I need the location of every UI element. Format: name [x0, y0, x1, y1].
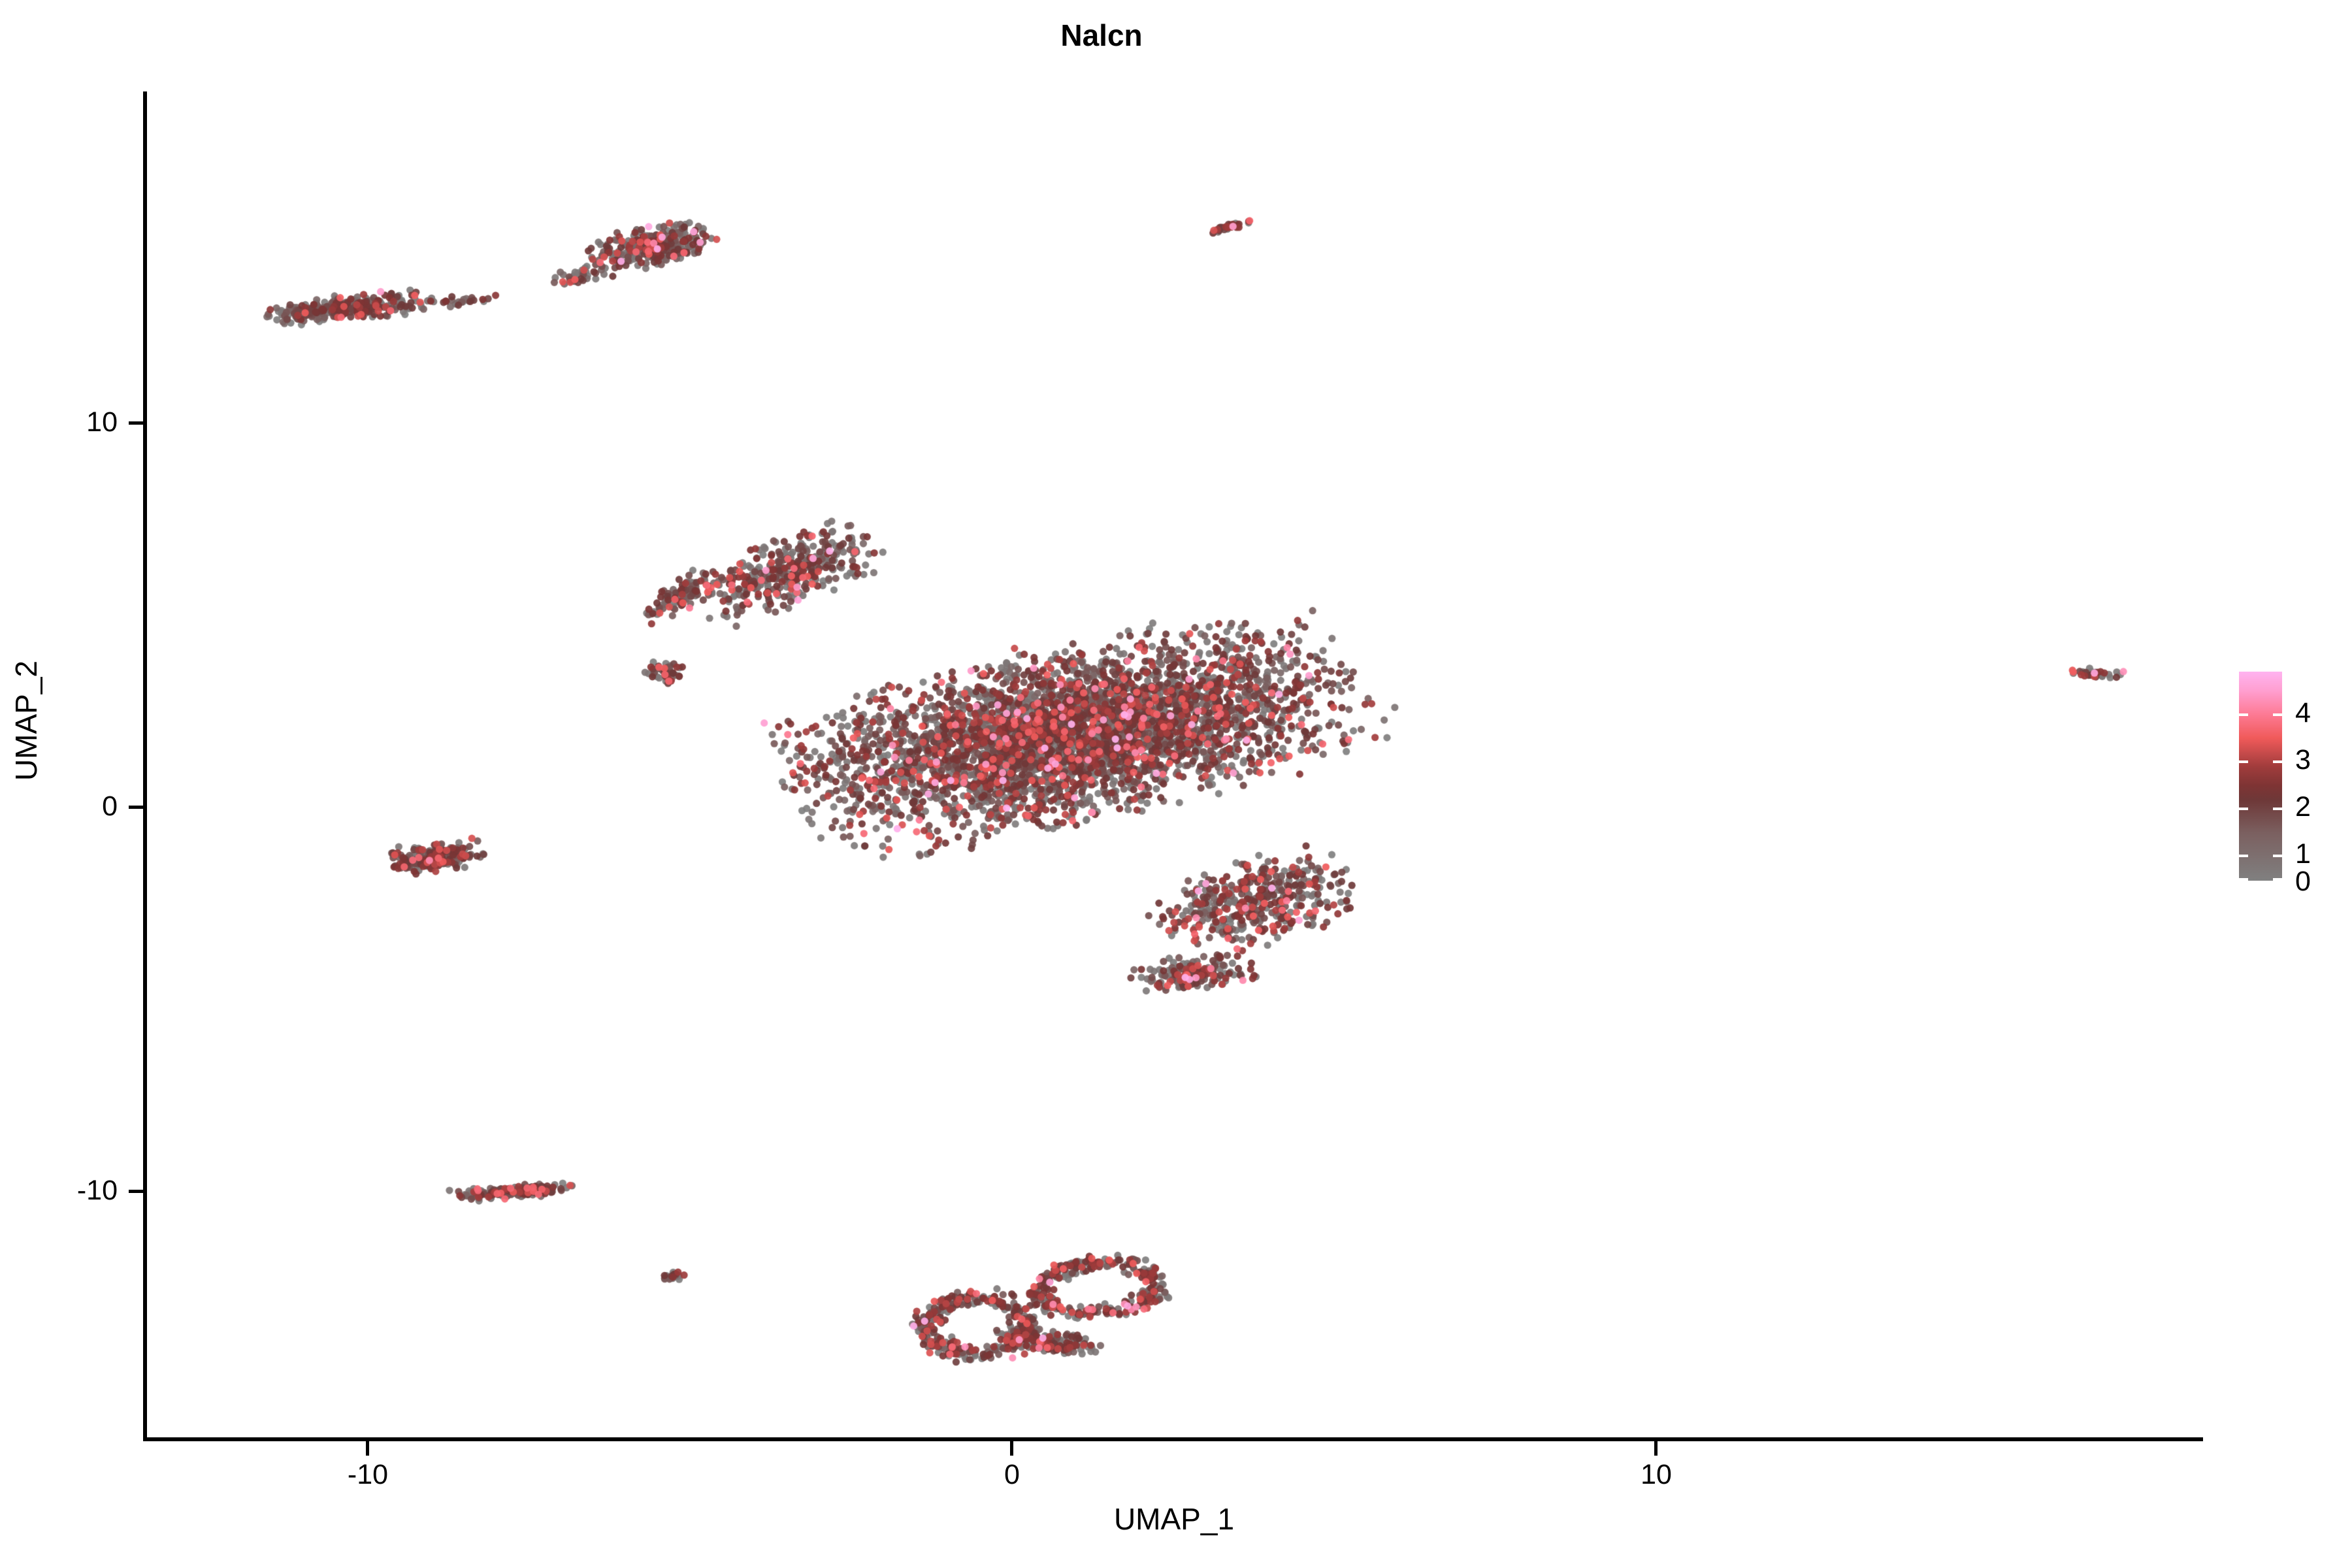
colorbar-tick — [2239, 760, 2248, 763]
x-axis-title: UMAP_1 — [145, 1501, 2203, 1537]
page-title: Nalcn — [0, 17, 2203, 54]
y-tick-mark — [129, 1190, 143, 1193]
x-tick-label-neg10: -10 — [302, 1461, 433, 1489]
x-tick-mark — [1654, 1441, 1658, 1456]
colorbar-tick — [2239, 713, 2248, 716]
colorbar-gradient — [2239, 672, 2282, 881]
colorbar-label-3: 3 — [2295, 746, 2311, 774]
colorbar-label-2: 2 — [2295, 793, 2311, 821]
x-tick-mark — [366, 1441, 369, 1456]
feature-plot-page: Nalcn 10 0 -10 -10 0 10 UMAP_1 UMAP_2 4 … — [0, 0, 2352, 1568]
colorbar-tick — [2273, 713, 2282, 716]
colorbar-label-1: 1 — [2295, 840, 2311, 868]
colorbar-tick — [2273, 878, 2282, 881]
x-axis-line — [143, 1437, 2203, 1441]
colorbar-tick — [2239, 855, 2248, 857]
x-tick-label-0: 0 — [947, 1461, 1077, 1489]
plot-panel — [145, 91, 2203, 1439]
y-axis-line — [143, 91, 147, 1441]
y-tick-label-neg10: -10 — [0, 1177, 118, 1205]
x-tick-mark — [1010, 1441, 1013, 1456]
colorbar-tick — [2273, 808, 2282, 810]
colorbar-tick — [2239, 878, 2248, 881]
colorbar-tick — [2273, 855, 2282, 857]
colorbar-label-4: 4 — [2295, 699, 2311, 727]
colorbar-tick — [2273, 760, 2282, 763]
colorbar-tick — [2239, 808, 2248, 810]
colorbar-label-0: 0 — [2295, 868, 2311, 896]
y-tick-mark — [129, 806, 143, 809]
scatter-points-canvas — [145, 91, 2203, 1439]
x-tick-label-10: 10 — [1591, 1461, 1722, 1489]
y-tick-label-10: 10 — [0, 408, 118, 436]
y-axis-title: UMAP_2 — [8, 459, 44, 982]
y-tick-mark — [129, 421, 143, 425]
